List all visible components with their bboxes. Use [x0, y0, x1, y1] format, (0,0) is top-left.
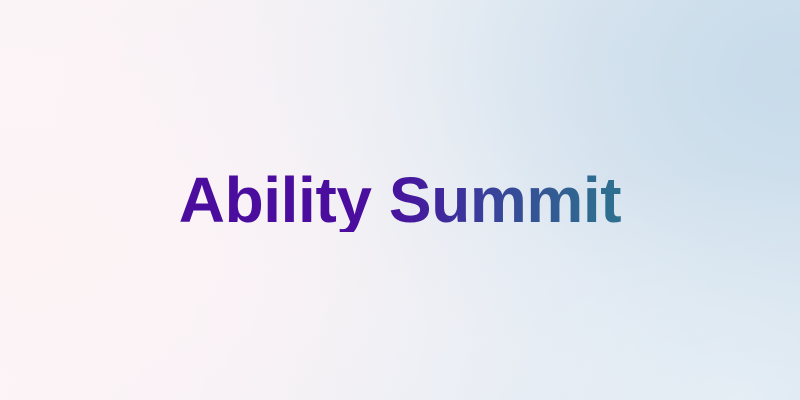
page-title: Ability Summit	[179, 168, 621, 232]
title-slide: Ability Summit	[0, 0, 800, 400]
title-container: Ability Summit	[0, 0, 800, 400]
